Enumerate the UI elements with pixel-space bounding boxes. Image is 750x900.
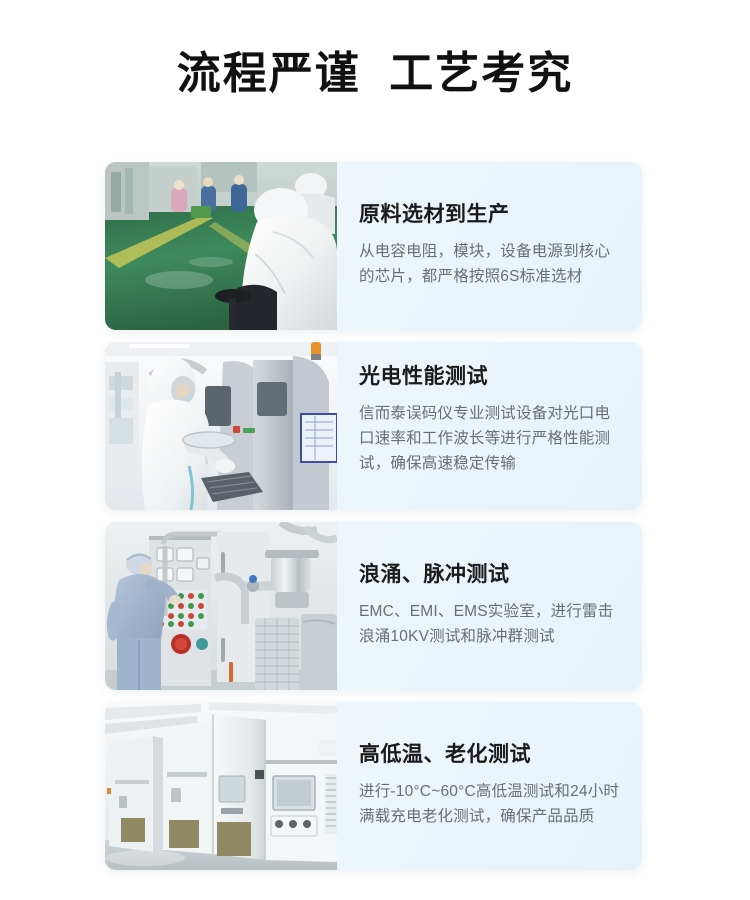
card-description: 进行-10°C~60°C高低温测试和24小时满载充电老化测试，确保产品品质	[359, 779, 624, 829]
pcb-assembly-worker-photo	[105, 162, 337, 330]
card-title: 浪涌、脉冲测试	[359, 562, 624, 587]
card-text-block: 光电性能测试 信而泰误码仪专业测试设备对光口电口速率和工作波长等进行严格性能测试…	[337, 342, 642, 510]
card-title: 光电性能测试	[359, 364, 624, 389]
process-card[interactable]: 光电性能测试 信而泰误码仪专业测试设备对光口电口速率和工作波长等进行严格性能测试…	[105, 342, 642, 510]
card-title: 高低温、老化测试	[359, 742, 624, 767]
card-title: 原料选材到生产	[359, 202, 624, 227]
card-text-block: 高低温、老化测试 进行-10°C~60°C高低温测试和24小时满载充电老化测试，…	[337, 702, 642, 870]
process-card[interactable]: 原料选材到生产 从电容电阻，模块，设备电源到核心的芯片，都严格按照6S标准选材	[105, 162, 642, 330]
cleanroom-optical-test-photo	[105, 342, 337, 510]
process-card[interactable]: 浪涌、脉冲测试 EMC、EMI、EMS实验室，进行雷击浪涌10KV测试和脉冲群测…	[105, 522, 642, 690]
card-text-block: 原料选材到生产 从电容电阻，模块，设备电源到核心的芯片，都严格按照6S标准选材	[337, 162, 642, 330]
process-quality-page: 流程严谨 工艺考究	[0, 0, 750, 900]
card-text-block: 浪涌、脉冲测试 EMC、EMI、EMS实验室，进行雷击浪涌10KV测试和脉冲群测…	[337, 522, 642, 690]
card-description: EMC、EMI、EMS实验室，进行雷击浪涌10KV测试和脉冲群测试	[359, 599, 624, 649]
process-card[interactable]: 高低温、老化测试 进行-10°C~60°C高低温测试和24小时满载充电老化测试，…	[105, 702, 642, 870]
surge-pulse-lab-photo	[105, 522, 337, 690]
card-description: 从电容电阻，模块，设备电源到核心的芯片，都严格按照6S标准选材	[359, 239, 624, 289]
page-title: 流程严谨 工艺考究	[0, 0, 750, 98]
aging-chamber-row-photo	[105, 702, 337, 870]
process-card-list: 原料选材到生产 从电容电阻，模块，设备电源到核心的芯片，都严格按照6S标准选材	[105, 162, 642, 882]
card-description: 信而泰误码仪专业测试设备对光口电口速率和工作波长等进行严格性能测试，确保高速稳定…	[359, 401, 624, 476]
